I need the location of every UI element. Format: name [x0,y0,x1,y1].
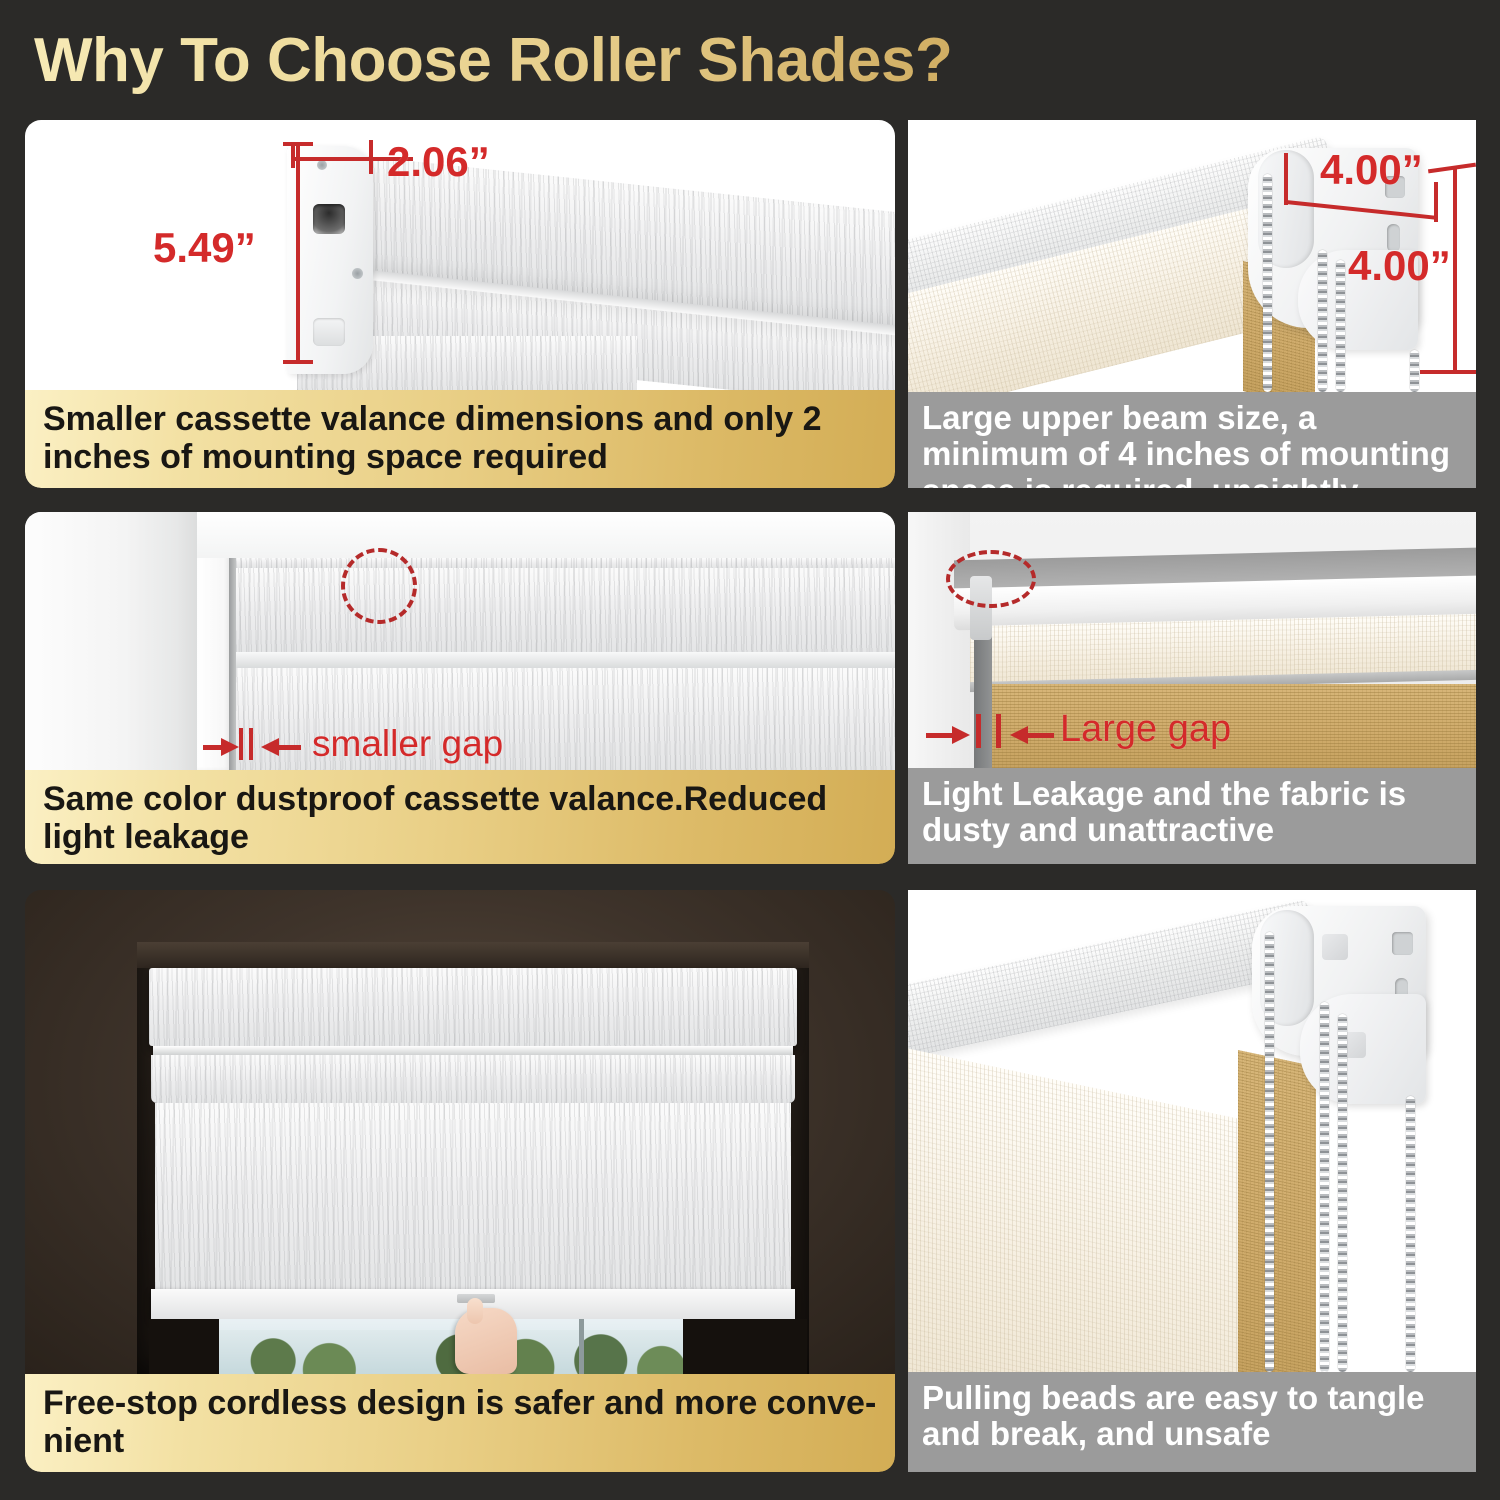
bead-chain-3 [1338,1014,1347,1372]
panel-pulling-beads: Pulling beads are easy to tangle and bre… [908,890,1476,1472]
window-mullion [579,1319,584,1374]
cassette-valance-photo: 2.06” 5.49” [25,120,895,390]
caption-dustproof-valance: Same color dustproof cassette valance.Re… [25,770,895,864]
highlight-circle [341,548,417,624]
caption-text: Smaller cassette valance dimensions and … [43,400,877,476]
upper-beam-photo: 4.00” 4.00” [908,120,1476,392]
hand-finger [467,1298,483,1324]
shade-panel [155,1103,791,1289]
valance-slot-line [153,1046,793,1055]
large-gap-label: Large gap [1060,708,1231,751]
gap-mark-b [249,728,253,760]
bead-chain-1 [1265,932,1274,1372]
window-frame-top [197,512,895,558]
bead-chain-2 [1318,250,1327,392]
window-lintel [137,942,809,968]
panel-cordless-design: Free-stop cordless design is safer and m… [25,890,895,1472]
valance-front-band [231,568,895,652]
gap-arrow-left-shaft [203,745,225,750]
gap-arrow-right [1010,726,1028,744]
beam-width-tick-right [1434,182,1438,222]
page-title: Why To Choose Roller Shades? [34,22,1084,100]
caption-cassette-dimensions: Smaller cassette valance dimensions and … [25,390,895,488]
gap-arrow-left-shaft [926,733,956,738]
panel-dustproof-valance: smaller gap Same color dustproof cassett… [25,512,895,864]
smaller-gap-label: smaller gap [312,723,503,765]
caption-pulling-beads: Pulling beads are easy to tangle and bre… [908,1372,1476,1472]
beam-height-dim-line [1453,166,1457,374]
panel-cassette-dimensions: 2.06” 5.49” Smaller cassette valance dim… [25,120,895,488]
caption-light-leakage: Light Leakage and the fabric is dusty an… [908,768,1476,864]
window-jamb-right [683,1319,807,1374]
endcap-roller-slot [313,204,345,234]
pulling-beads-photo [908,890,1476,1372]
highlight-circle [946,550,1036,608]
width-dimension-label: 2.06” [387,138,490,186]
caption-text: Large upper beam size, a minimum of 4 in… [922,400,1462,488]
caption-text: Pulling beads are easy to tangle and bre… [922,1380,1462,1453]
endcap-screw-mid [352,268,363,279]
bead-chain-4 [1406,1096,1415,1372]
panel-light-leakage: Large gap Light Leakage and the fabric i… [908,512,1476,864]
valance-bottom-rail [231,652,895,668]
tree-foliage [217,1330,685,1374]
height-dim-line [296,142,300,364]
beam-height-tick-bottom [1420,370,1476,374]
beam-width-label: 4.00” [1320,146,1423,194]
caption-cordless-design: Free-stop cordless design is safer and m… [25,1374,895,1472]
gap-arrow-right-shaft [279,745,301,750]
valance-lower-lip [151,1055,795,1103]
endcap-screw-top [317,160,327,170]
gap-arrow-right-shaft [1028,733,1054,738]
caption-text: Same color dustproof cassette valance.Re… [43,780,877,856]
dustproof-valance-photo: smaller gap [25,512,895,770]
bead-chain-2 [1320,1002,1329,1372]
height-dimension-label: 5.49” [153,224,256,272]
window-jamb-left [149,1319,219,1374]
window-frame-left [25,512,197,770]
cassette-valance-head [231,558,895,568]
gap-mark-b [996,714,1001,748]
height-dim-tick-top [283,142,313,146]
bead-chain-1 [1263,174,1272,392]
gap-mark-a [239,728,243,760]
bracket-icon-upper [1322,934,1348,960]
beam-height-label: 4.00” [1348,242,1451,290]
cassette-valance [149,968,797,1046]
bracket-slot-upper [1392,932,1413,955]
gap-mark-a [976,714,981,748]
fabric-backing [1238,1050,1316,1372]
height-dim-tick-bottom [283,360,313,364]
light-leakage-photo: Large gap [908,512,1476,768]
caption-text: Light Leakage and the fabric is dusty an… [922,776,1462,849]
hand-illustration [455,1308,517,1374]
caption-text: Free-stop cordless design is safer and m… [43,1384,877,1460]
caption-upper-beam-size: Large upper beam size, a minimum of 4 in… [908,392,1476,488]
beam-width-tick-left [1284,153,1288,205]
bead-chain-3 [1336,260,1345,392]
cordless-design-photo [25,890,895,1374]
panel-upper-beam-size: 4.00” 4.00” Large upper beam size, a min… [908,120,1476,488]
endcap-bottom-clip [313,318,345,346]
bead-chain-4 [1410,350,1419,392]
width-dim-tick-right [369,140,373,174]
gap-arrow-right [261,738,279,756]
